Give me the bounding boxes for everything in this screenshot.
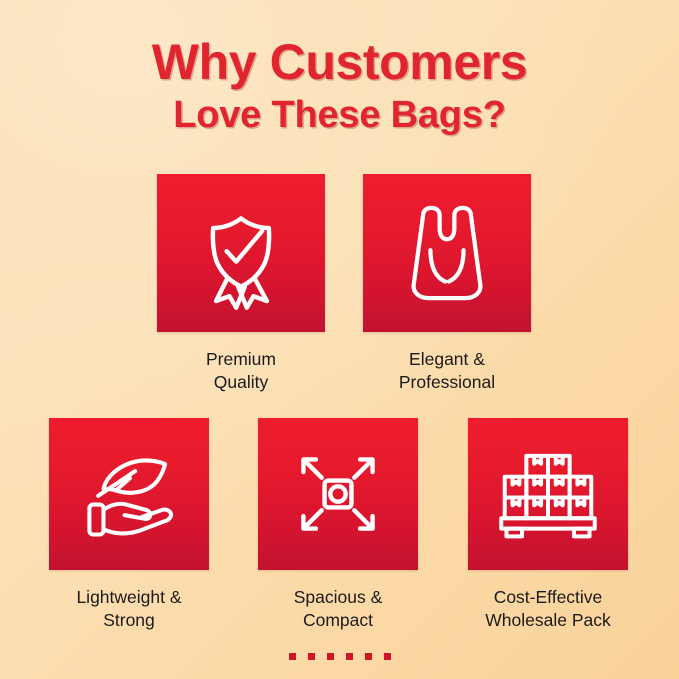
feature-caption: Cost-Effective Wholesale Pack [485,586,610,632]
feature-cost-effective: Cost-Effective Wholesale Pack [468,418,628,632]
award-shield-ribbon-icon [193,205,289,301]
page-title-line-1: Why Customers [0,34,679,90]
feature-caption-line-1: Cost-Effective [485,586,610,609]
feature-caption-line-2: Compact [294,609,383,632]
feature-caption-line-2: Strong [76,609,181,632]
feature-caption-line-1: Elegant & [399,348,495,371]
feature-icon-tile [258,418,418,570]
footer-dot [327,653,334,660]
feature-caption: Premium Quality [206,348,276,394]
feature-lightweight-strong: Lightweight & Strong [49,418,209,632]
feature-caption-line-2: Quality [206,371,276,394]
feature-caption-line-1: Spacious & [294,586,383,609]
feature-caption-line-1: Premium [206,348,276,371]
page-title: Why Customers Love These Bags? [0,34,679,138]
page-title-line-2: Love These Bags? [0,92,679,138]
feature-icon-tile [363,174,531,332]
footer-dot-decoration [0,653,679,660]
feature-caption: Elegant & Professional [399,348,495,394]
feature-caption-line-2: Wholesale Pack [485,609,610,632]
feature-premium-quality: Premium Quality [157,174,325,394]
footer-dot [308,653,315,660]
feature-caption: Spacious & Compact [294,586,383,632]
feature-icon-tile [49,418,209,570]
feature-elegant-professional: Elegant & Professional [363,174,531,394]
feature-icon-tile [468,418,628,570]
feature-icon-tile [157,174,325,332]
boxes-on-pallet-icon [499,449,597,539]
feature-caption-line-2: Professional [399,371,495,394]
feature-caption: Lightweight & Strong [76,586,181,632]
feature-spacious-compact: Spacious & Compact [258,418,418,632]
expand-arrows-icon [290,446,386,542]
feature-caption-line-1: Lightweight & [76,586,181,609]
plastic-shopping-bag-icon [401,204,493,302]
footer-dot [365,653,372,660]
feather-in-hand-icon [80,450,178,538]
footer-dot [384,653,391,660]
promo-poster: Why Customers Love These Bags? Premium [0,0,679,679]
footer-dot [289,653,296,660]
footer-dot [346,653,353,660]
